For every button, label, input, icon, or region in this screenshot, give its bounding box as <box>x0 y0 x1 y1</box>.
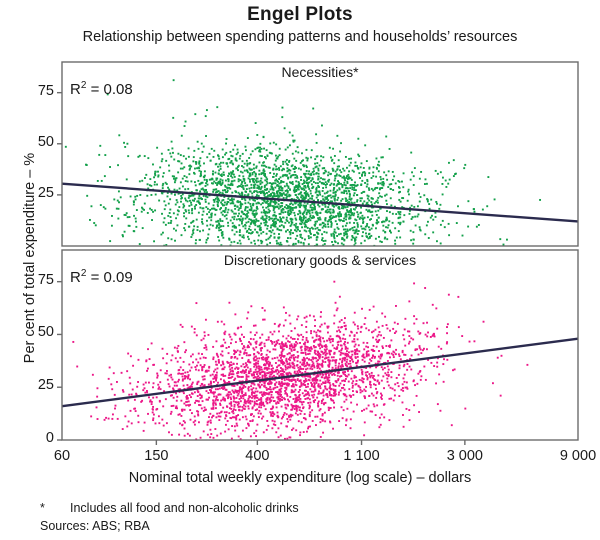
x-tick-label: 3 000 <box>425 448 505 464</box>
sources-note: Sources: ABS; RBA <box>40 518 299 536</box>
y-tick-label: 75 <box>20 272 54 288</box>
scatter-group-necessities <box>65 79 541 247</box>
y-tick-label: 25 <box>20 185 54 201</box>
y-tick-label: 75 <box>20 83 54 99</box>
x-tick-label: 60 <box>22 448 102 464</box>
y-tick-label: 25 <box>20 377 54 393</box>
x-axis-title: Nominal total weekly expenditure (log sc… <box>0 470 600 486</box>
r-squared-label-discretionary: R2 = 0.09 <box>70 268 133 286</box>
scatter-group-discretionary <box>72 281 528 441</box>
x-tick-label: 150 <box>116 448 196 464</box>
footnote-star: * Includes all food and non-alcoholic dr… <box>40 500 299 518</box>
x-tick-label: 9 000 <box>538 448 600 464</box>
trend-line-necessities <box>62 184 578 222</box>
x-tick-label: 400 <box>217 448 297 464</box>
y-tick-label: 50 <box>20 324 54 340</box>
r-squared-label-necessities: R2 = 0.08 <box>70 80 133 98</box>
panel-title-necessities: Necessities* <box>62 64 578 80</box>
y-tick-label: 50 <box>20 134 54 150</box>
footnote-star-text: Includes all food and non-alcoholic drin… <box>70 500 299 518</box>
footnote-star-mark: * <box>40 500 70 518</box>
y-tick-label: 0 <box>20 430 54 446</box>
panel-title-discretionary: Discretionary goods & services <box>62 252 578 268</box>
footnotes: * Includes all food and non-alcoholic dr… <box>40 500 299 536</box>
engel-plots-figure: Engel Plots Relationship between spendin… <box>0 0 600 540</box>
x-tick-label: 1 100 <box>322 448 402 464</box>
